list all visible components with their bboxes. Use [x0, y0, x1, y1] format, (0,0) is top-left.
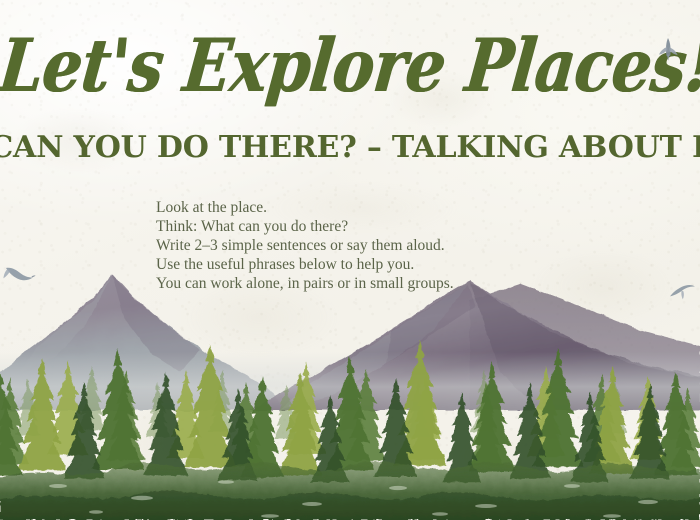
page-subtitle: WHAT CAN YOU DO THERE? – TALKING ABOUT P…: [0, 130, 700, 165]
poster-canvas: Let's Explore Places! WHAT CAN YOU DO TH…: [0, 0, 700, 520]
watercolor-scenery-illustration: [0, 260, 700, 520]
instruction-line: Look at the place.: [156, 198, 576, 217]
page-title: Let's Explore Places!: [0, 7, 700, 125]
bird-icon: [655, 36, 681, 62]
instruction-line: Write 2–3 simple sentences or say them a…: [156, 236, 576, 255]
instruction-line: Think: What can you do there?: [156, 217, 576, 236]
